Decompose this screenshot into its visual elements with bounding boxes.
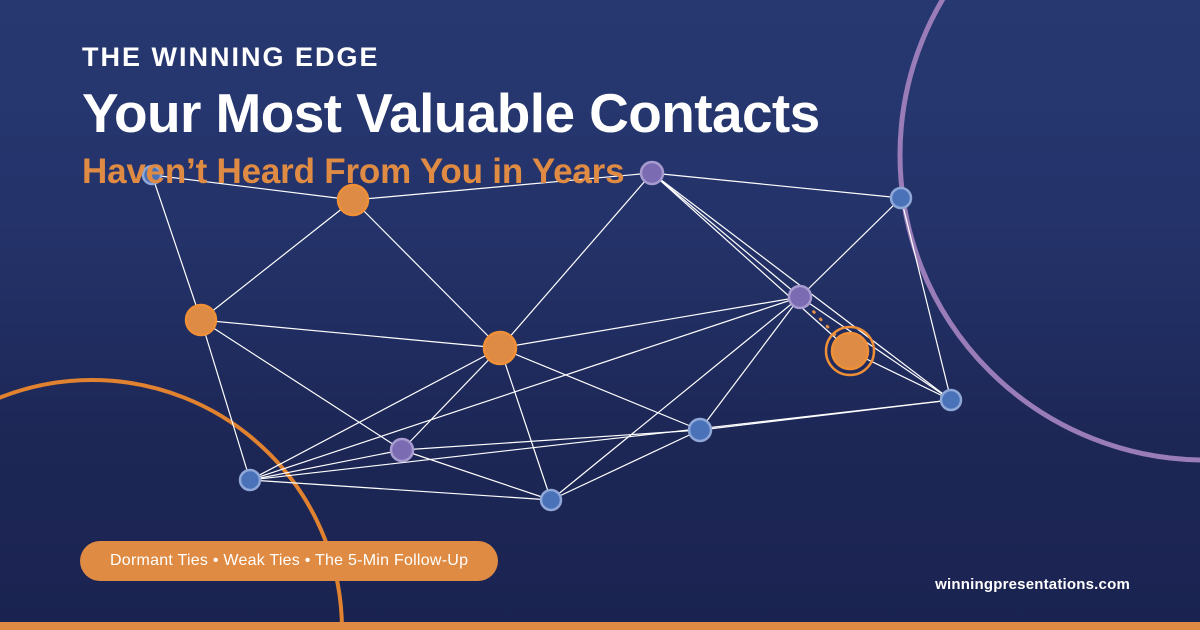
bottom-accent-bar xyxy=(0,622,1200,630)
headline-block: THE WINNING EDGE Your Most Valuable Cont… xyxy=(82,44,942,191)
graph-node-layer xyxy=(143,162,961,510)
contact-node-3 xyxy=(941,390,961,410)
node-circle xyxy=(186,305,216,335)
subtitle: Haven’t Heard From You in Years xyxy=(82,153,942,192)
graph-edge xyxy=(652,173,850,351)
graph-edge xyxy=(201,320,500,348)
node-circle xyxy=(541,490,561,510)
graph-edge xyxy=(500,348,700,430)
graph-edge xyxy=(551,297,800,500)
presentation-slide: THE WINNING EDGE Your Most Valuable Cont… xyxy=(0,0,1200,630)
node-circle xyxy=(789,286,811,308)
graph-edge xyxy=(800,297,951,400)
node-circle xyxy=(941,390,961,410)
graph-edge xyxy=(402,348,500,450)
graph-edge xyxy=(402,450,551,500)
weak-tie-node-2 xyxy=(789,286,811,308)
node-circle xyxy=(832,333,868,369)
graph-edge xyxy=(500,173,652,348)
dormant-node-2 xyxy=(186,305,216,335)
topics-pill: Dormant Ties • Weak Ties • The 5-Min Fol… xyxy=(80,541,498,581)
graph-edge xyxy=(250,400,951,480)
contact-node-6 xyxy=(541,490,561,510)
graph-edge xyxy=(800,198,901,297)
graph-edge xyxy=(700,297,800,430)
eyebrow-label: THE WINNING EDGE xyxy=(82,44,942,71)
graph-edge xyxy=(201,200,353,320)
graph-edge xyxy=(152,175,201,320)
graph-edge xyxy=(901,198,951,400)
contact-node-5 xyxy=(240,470,260,490)
topics-pill-label: Dormant Ties • Weak Ties • The 5-Min Fol… xyxy=(110,552,468,570)
dormant-node-3 xyxy=(484,332,516,364)
graph-edge xyxy=(250,297,800,480)
node-circle xyxy=(391,439,413,461)
graph-edge xyxy=(402,430,700,450)
page-title: Your Most Valuable Contacts xyxy=(82,85,942,143)
graph-edge xyxy=(551,430,700,500)
graph-edge xyxy=(652,173,800,297)
node-circle xyxy=(484,332,516,364)
node-circle xyxy=(689,419,711,441)
weak-tie-node-3 xyxy=(391,439,413,461)
graph-edge xyxy=(201,320,250,480)
highlighted-contact-node xyxy=(826,327,874,375)
footer-website-url: winningpresentations.com xyxy=(935,576,1130,593)
graph-edge xyxy=(500,297,800,348)
graph-edge xyxy=(353,200,500,348)
graph-edge xyxy=(250,480,551,500)
graph-edge xyxy=(500,348,551,500)
graph-edge xyxy=(201,320,402,450)
graph-edge xyxy=(250,348,500,480)
contact-node-4 xyxy=(689,419,711,441)
node-circle xyxy=(240,470,260,490)
